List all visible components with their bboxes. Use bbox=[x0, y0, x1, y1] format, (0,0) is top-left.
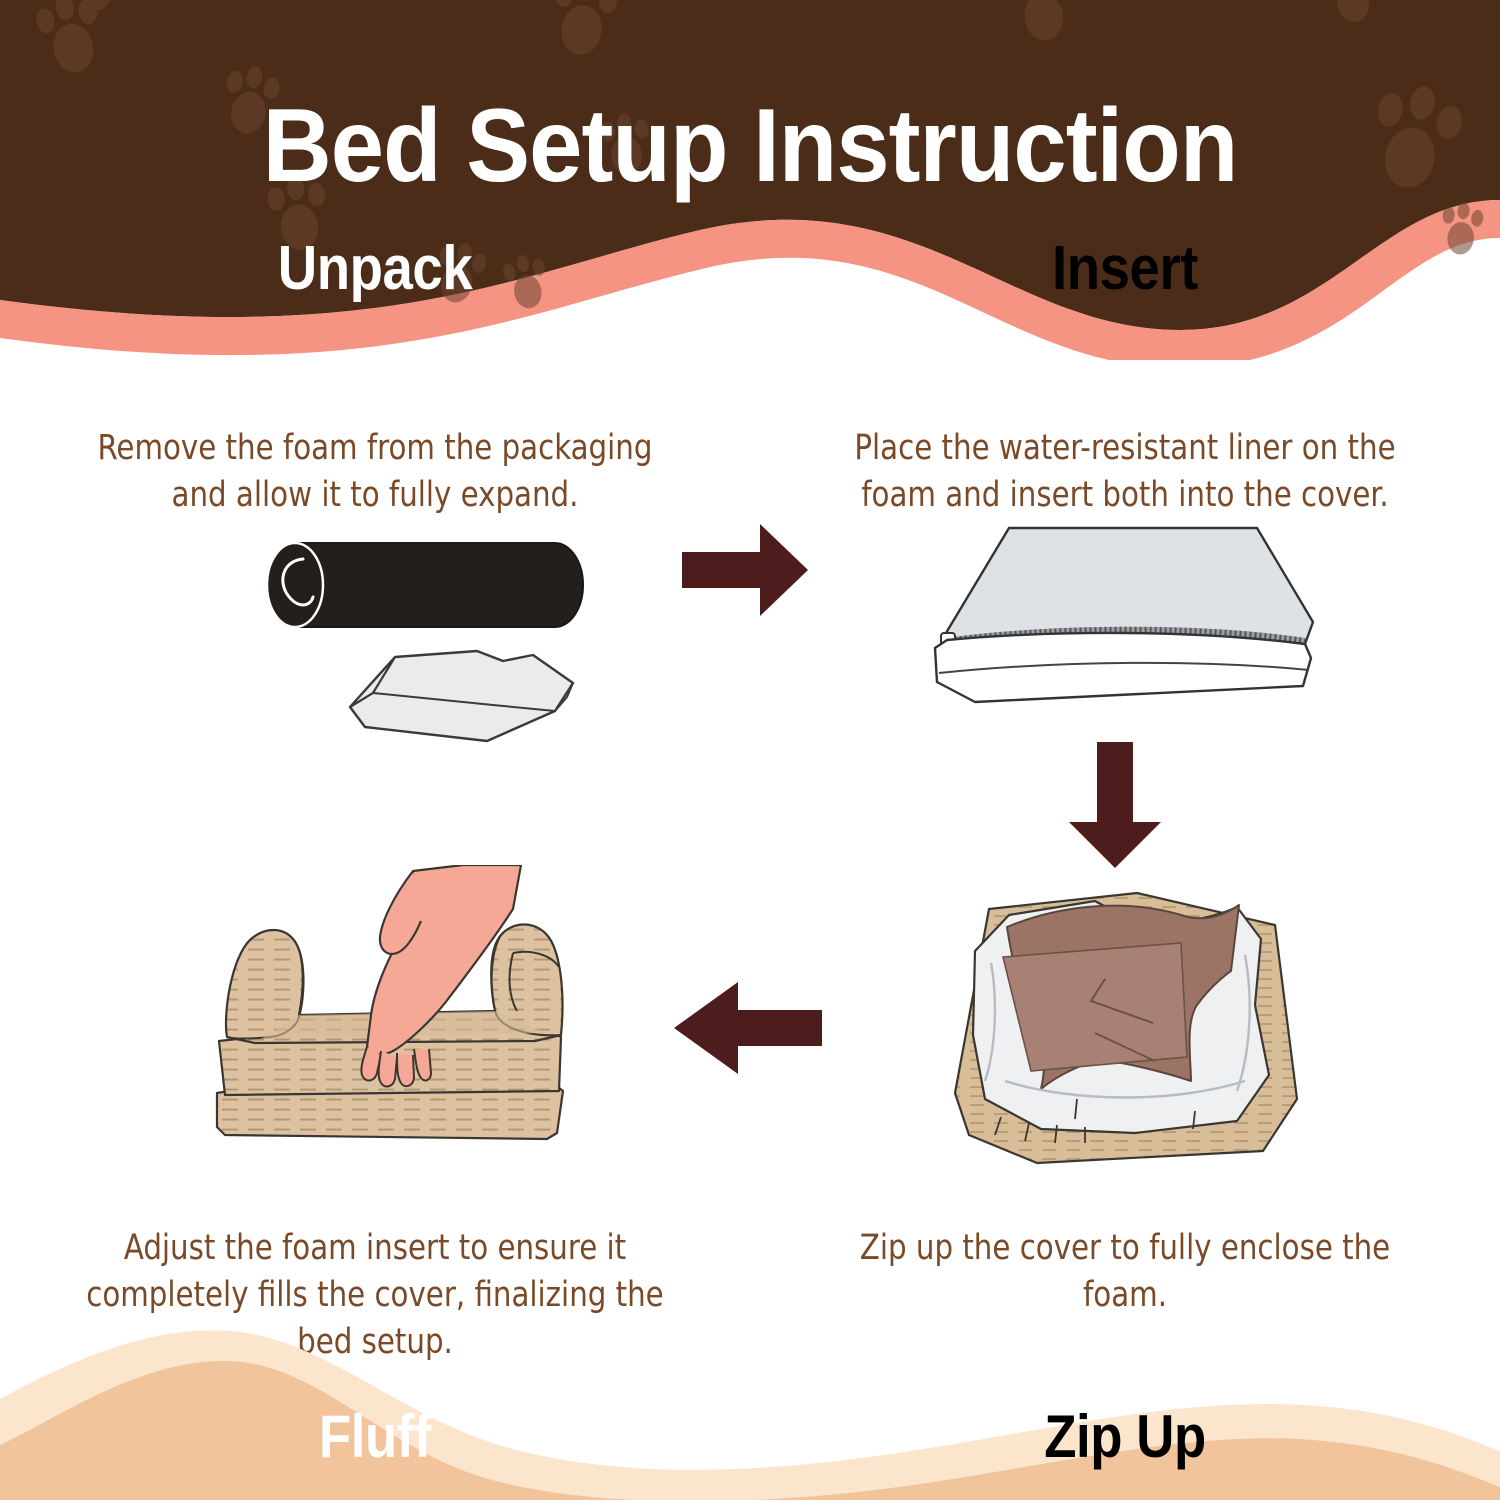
step-heading-unpack: Unpack bbox=[45, 238, 705, 300]
step-caption-insert: Place the water-resistant liner on the f… bbox=[827, 425, 1422, 519]
illustration-cover-with-foam-inside bbox=[945, 885, 1325, 1175]
folded-liner-icon bbox=[350, 651, 573, 741]
step-heading-fluff: Fluff bbox=[45, 1406, 705, 1468]
arrow-down-icon bbox=[1065, 740, 1165, 870]
page-title: Bed Setup Instruction bbox=[60, 92, 1440, 200]
step-caption-unpack: Remove the foam from the packaging and a… bbox=[77, 425, 672, 519]
arrow-left-icon bbox=[672, 978, 824, 1078]
step-heading-insert: Insert bbox=[795, 238, 1455, 300]
illustration-rolled-foam-and-liner bbox=[255, 515, 635, 745]
illustration-hand-pressing-bed bbox=[195, 865, 615, 1175]
arrow-right-icon bbox=[680, 518, 810, 622]
instruction-poster: Bed Setup Instruction Unpack Insert Remo… bbox=[0, 0, 1500, 1500]
step-caption-zipup: Zip up the cover to fully enclose the fo… bbox=[827, 1225, 1422, 1319]
illustration-liner-on-foam-with-zipper bbox=[905, 510, 1315, 705]
step-heading-zipup: Zip Up bbox=[795, 1406, 1455, 1468]
rolled-foam-icon bbox=[267, 543, 583, 627]
